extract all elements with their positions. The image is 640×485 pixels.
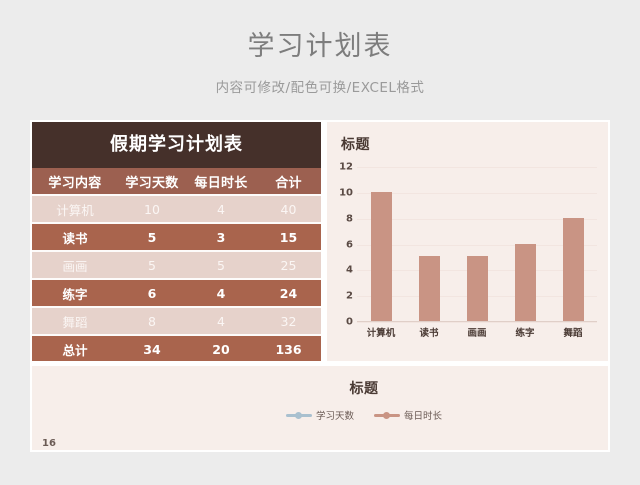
column-header-total: 合计 (256, 168, 321, 195)
page-subtitle: 内容可修改/配色可换/EXCEL格式 (0, 62, 640, 96)
bar-chart-y-axis: 024681012 (331, 167, 353, 322)
cell-hours: 5 (186, 251, 256, 279)
bar-chart-bar-slot (405, 167, 453, 321)
bar-chart-x-axis: 计算机读书画画练字舞蹈 (357, 325, 597, 339)
table-total-row: 总计 34 20 136 (32, 335, 321, 361)
line-chart-legend-item: 学习天数 (286, 408, 354, 422)
line-chart-legend-swatch (286, 414, 312, 417)
cell-hours: 3 (186, 223, 256, 251)
bar-chart-y-tick: 10 (331, 187, 353, 198)
table-row: 读书 5 3 15 (32, 223, 321, 251)
bar-chart-bar (563, 218, 584, 321)
cell-name: 读书 (32, 223, 118, 251)
line-chart-legend-item: 每日时长 (374, 408, 442, 422)
page-header: 学习计划表 内容可修改/配色可换/EXCEL格式 (0, 0, 640, 96)
line-chart-panel: 标题 学习天数每日时长 16 (32, 366, 608, 450)
bar-chart-y-tick: 2 (331, 291, 353, 302)
cell-total: 40 (256, 195, 321, 223)
line-chart-legend-label: 每日时长 (404, 408, 442, 422)
study-plan-table: 学习内容 学习天数 每日时长 合计 计算机 10 4 40 读书 5 3 15 (32, 168, 321, 361)
table-header-row: 学习内容 学习天数 每日时长 合计 (32, 168, 321, 195)
bar-chart-bar (371, 192, 392, 321)
bar-chart-y-tick: 12 (331, 162, 353, 173)
cell-total: 32 (256, 307, 321, 335)
line-chart-legend: 学习天数每日时长 (76, 408, 608, 422)
bar-chart-baseline (357, 321, 597, 322)
cell-days: 5 (118, 223, 186, 251)
table-title: 假期学习计划表 (32, 122, 321, 168)
cell-total: 24 (256, 279, 321, 307)
table-row: 画画 5 5 25 (32, 251, 321, 279)
bar-chart-bar-slot (501, 167, 549, 321)
table-head: 学习内容 学习天数 每日时长 合计 (32, 168, 321, 195)
bar-chart-bar (515, 244, 536, 322)
bar-chart-x-label: 舞蹈 (549, 325, 597, 339)
table-body: 计算机 10 4 40 读书 5 3 15 画画 5 5 25 (32, 195, 321, 361)
cell-days: 34 (118, 335, 186, 361)
cell-name: 计算机 (32, 195, 118, 223)
cell-hours: 4 (186, 279, 256, 307)
line-chart-legend-swatch (374, 414, 400, 417)
column-header-hours: 每日时长 (186, 168, 256, 195)
table-row: 舞蹈 8 4 32 (32, 307, 321, 335)
bar-chart-x-label: 读书 (405, 325, 453, 339)
line-chart-legend-label: 学习天数 (316, 408, 354, 422)
content-sheet: 假期学习计划表 学习内容 学习天数 每日时长 合计 计算机 10 4 40 (30, 120, 610, 452)
table-row: 计算机 10 4 40 (32, 195, 321, 223)
bar-chart-bar-slot (453, 167, 501, 321)
cell-name: 舞蹈 (32, 307, 118, 335)
bar-chart-y-tick: 4 (331, 265, 353, 276)
cell-name: 总计 (32, 335, 118, 361)
bar-chart-x-label: 计算机 (357, 325, 405, 339)
bar-chart-plot: 024681012 计算机读书画画练字舞蹈 (357, 167, 597, 322)
cell-days: 8 (118, 307, 186, 335)
cell-total: 136 (256, 335, 321, 361)
bar-chart-title: 标题 (341, 134, 370, 154)
cell-total: 25 (256, 251, 321, 279)
cell-days: 10 (118, 195, 186, 223)
bar-chart-bar (419, 256, 440, 321)
cell-name: 画画 (32, 251, 118, 279)
page-title: 学习计划表 (0, 0, 640, 62)
table-row: 练字 6 4 24 (32, 279, 321, 307)
bar-chart-bar (467, 256, 488, 321)
line-chart-title: 标题 (76, 378, 608, 398)
bar-chart-bars (357, 167, 597, 321)
bar-chart-gridline (357, 322, 597, 323)
cell-days: 6 (118, 279, 186, 307)
bar-chart-y-tick: 6 (331, 239, 353, 250)
bar-chart-bar-slot (549, 167, 597, 321)
bar-chart-y-tick: 0 (331, 317, 353, 328)
study-plan-table-panel: 假期学习计划表 学习内容 学习天数 每日时长 合计 计算机 10 4 40 (32, 122, 321, 361)
cell-name: 练字 (32, 279, 118, 307)
bar-chart-x-label: 练字 (501, 325, 549, 339)
cell-days: 5 (118, 251, 186, 279)
bar-chart-x-label: 画画 (453, 325, 501, 339)
cell-hours: 4 (186, 195, 256, 223)
column-header-days: 学习天数 (118, 168, 186, 195)
bar-chart-y-tick: 8 (331, 213, 353, 224)
cell-hours: 20 (186, 335, 256, 361)
cell-hours: 4 (186, 307, 256, 335)
column-header-content: 学习内容 (32, 168, 118, 195)
line-chart-y-tick: 16 (42, 438, 56, 449)
bar-chart-panel: 标题 024681012 计算机读书画画练字舞蹈 (327, 122, 608, 361)
cell-total: 15 (256, 223, 321, 251)
bar-chart-bar-slot (357, 167, 405, 321)
